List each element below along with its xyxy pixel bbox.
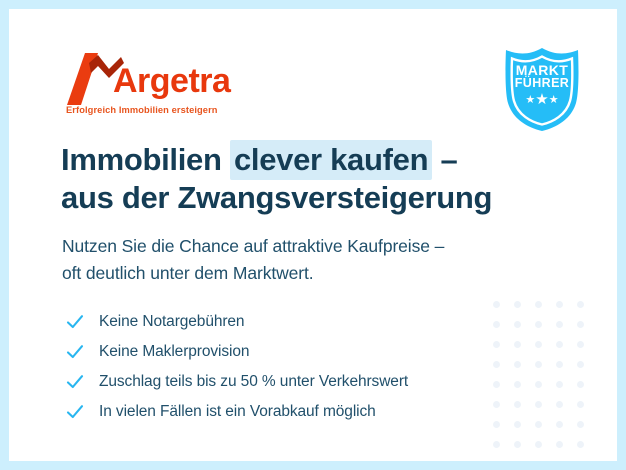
dot [535,421,542,428]
argetra-logo[interactable]: Argetra Erfolgreich Immobilien ersteiger… [65,53,265,119]
dot [556,321,563,328]
list-item-label: Keine Maklerprovision [99,343,249,362]
dot [535,321,542,328]
dot [535,361,542,368]
check-icon [65,372,85,392]
list-item: Keine Maklerprovision [65,337,525,367]
headline-line-2: aus der Zwangsversteigerung [61,179,561,217]
check-icon [65,402,85,422]
dot [535,341,542,348]
dot [577,421,584,428]
check-icon [65,312,85,332]
dot [556,441,563,448]
benefit-list: Keine Notargebühren Keine Maklerprovisio… [65,307,525,427]
shield-badge-icon [498,45,586,133]
list-item-label: Keine Notargebühren [99,313,244,332]
dot [577,441,584,448]
dot [556,361,563,368]
headline-line-1: Immobilien clever kaufen – [61,141,561,179]
dot [556,341,563,348]
dot [556,421,563,428]
list-item: Keine Notargebühren [65,307,525,337]
dot [577,321,584,328]
list-item-label: Zuschlag teils bis zu 50 % unter Verkehr… [99,373,408,392]
dot [535,301,542,308]
page-title: Immobilien clever kaufen – aus der Zwang… [61,141,561,217]
list-item: Zuschlag teils bis zu 50 % unter Verkehr… [65,367,525,397]
dot [535,401,542,408]
subheading-line-2: oft deutlich unter dem Marktwert. [62,260,582,287]
dot [535,441,542,448]
headline-suffix: – [432,142,457,177]
subheading: Nutzen Sie die Chance auf attraktive Kau… [62,233,582,287]
headline-prefix: Immobilien [61,142,230,177]
dot [577,301,584,308]
subheading-line-1: Nutzen Sie die Chance auf attraktive Kau… [62,233,582,260]
dot [556,301,563,308]
logo-tagline: Erfolgreich Immobilien ersteigern [66,105,218,115]
logo-wordmark: Argetra [113,64,230,98]
list-item-label: In vielen Fällen ist ein Vorabkauf mögli… [99,403,376,422]
check-icon [65,342,85,362]
headline-highlight: clever kaufen [230,140,432,180]
promo-card: Argetra Erfolgreich Immobilien ersteiger… [9,9,617,461]
dot [577,361,584,368]
markt-fuehrer-badge: MARKT FÜHRER ★★★ [498,45,586,133]
dot [493,441,500,448]
dot [577,381,584,388]
dot [556,381,563,388]
dot [577,341,584,348]
dot-row [493,441,617,448]
dot [535,381,542,388]
promo-banner: Argetra Erfolgreich Immobilien ersteiger… [0,0,626,470]
dot [514,441,521,448]
list-item: In vielen Fällen ist ein Vorabkauf mögli… [65,397,525,427]
dot [577,401,584,408]
dot [556,401,563,408]
